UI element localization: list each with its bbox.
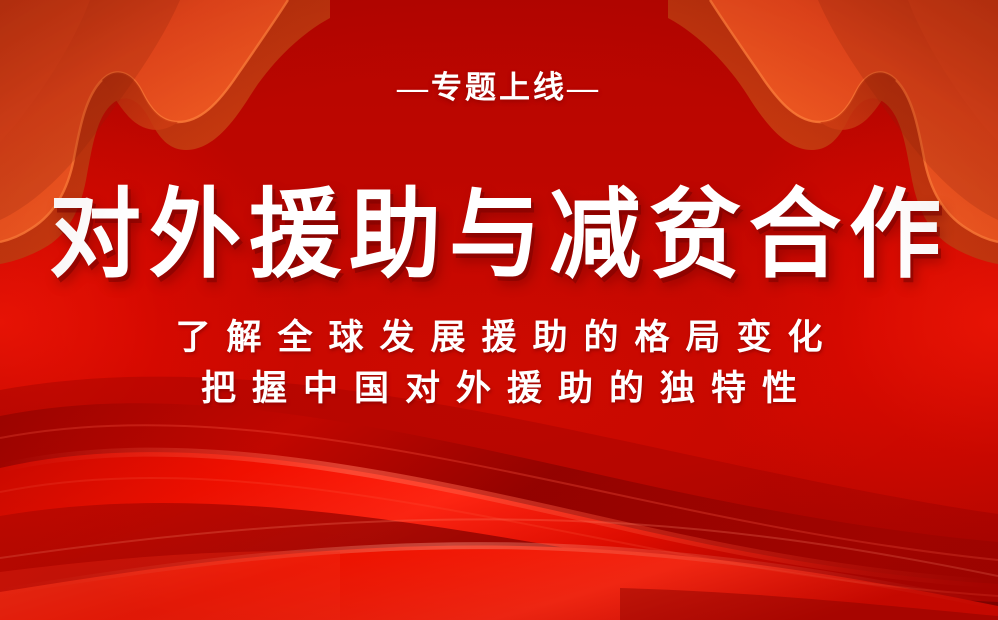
subtitle-line-2: 把握中国对外援助的独特性 xyxy=(185,372,813,407)
banner-content: —专题上线— 对外援助与减贫合作 了解全球发展援助的格局变化 把握中国对外援助的… xyxy=(0,0,998,620)
promo-banner: —专题上线— 对外援助与减贫合作 了解全球发展援助的格局变化 把握中国对外援助的… xyxy=(0,0,998,620)
page-title: 对外援助与减贫合作 xyxy=(49,187,949,285)
eyebrow-label: —专题上线— xyxy=(397,72,601,103)
subtitle-block: 了解全球发展援助的格局变化 把握中国对外援助的独特性 xyxy=(159,321,838,407)
subtitle-line-1: 了解全球发展援助的格局变化 xyxy=(159,321,838,356)
